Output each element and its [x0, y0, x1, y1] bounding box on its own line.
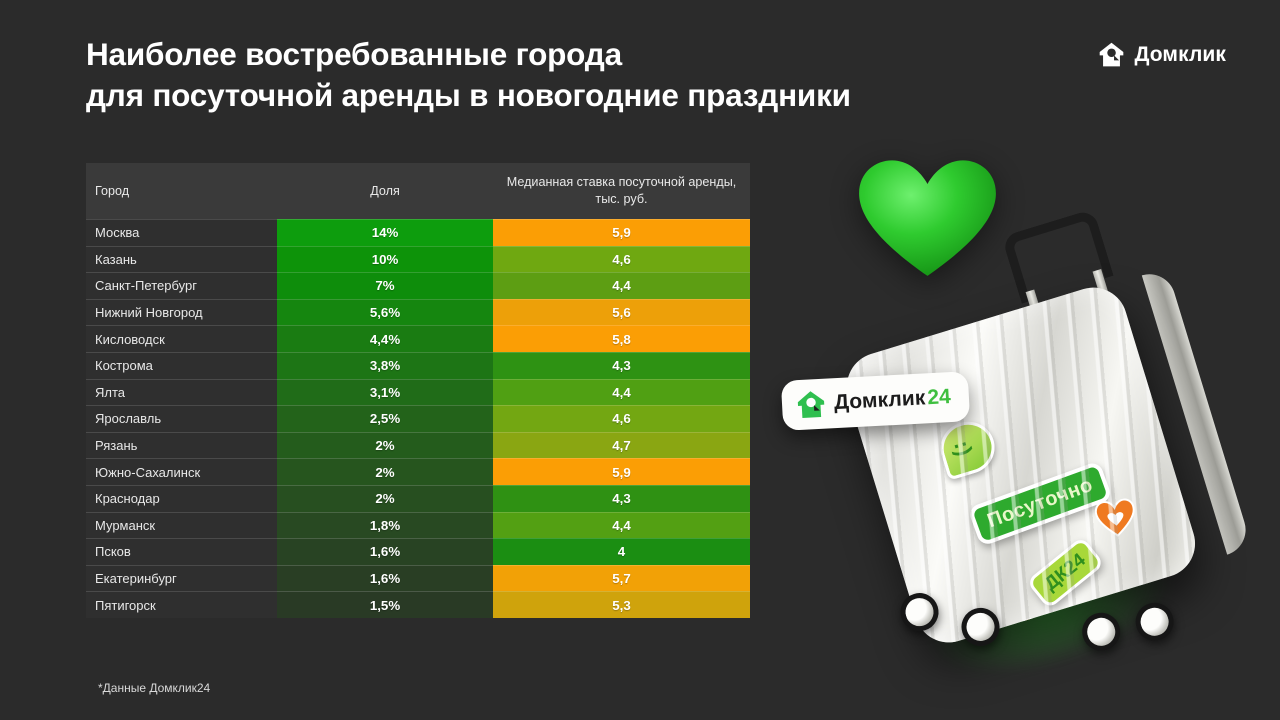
cell-rate: 5,6: [493, 299, 750, 326]
cell-rate: 4,3: [493, 485, 750, 512]
data-table: Город Доля Медианная ставка посуточной а…: [86, 163, 750, 618]
cell-share: 2%: [277, 432, 493, 459]
cell-rate: 4,4: [493, 512, 750, 539]
column-header-share: Доля: [277, 163, 493, 219]
table-row: Пятигорск1,5%5,3: [86, 591, 750, 618]
cell-city: Рязань: [86, 432, 277, 459]
domclick-house-icon: [795, 389, 827, 421]
cell-share: 1,6%: [277, 565, 493, 592]
cell-share: 2%: [277, 485, 493, 512]
cell-city: Псков: [86, 538, 277, 565]
domclick-house-icon: [1098, 41, 1125, 68]
cell-rate: 5,9: [493, 219, 750, 246]
table-row: Ялта3,1%4,4: [86, 379, 750, 406]
cell-rate: 5,7: [493, 565, 750, 592]
cell-share: 4,4%: [277, 325, 493, 352]
cell-rate: 5,8: [493, 325, 750, 352]
badge-suffix: 24: [927, 385, 952, 410]
cell-city: Пятигорск: [86, 591, 277, 618]
badge-brand-name: Домклик: [833, 386, 926, 415]
cell-city: Казань: [86, 246, 277, 273]
cell-share: 14%: [277, 219, 493, 246]
table-row: Рязань2%4,7: [86, 432, 750, 459]
sticker-posutochno: Посуточно: [967, 460, 1113, 547]
sticker-heart-icon: [1094, 497, 1138, 540]
footnote: *Данные Домклик24: [98, 681, 210, 695]
domclick24-badge: Домклик 24: [781, 371, 970, 431]
cell-share: 10%: [277, 246, 493, 273]
cell-city: Ялта: [86, 379, 277, 406]
cell-share: 2%: [277, 458, 493, 485]
cell-city: Москва: [86, 219, 277, 246]
column-header-city: Город: [86, 163, 277, 219]
cell-rate: 4,4: [493, 272, 750, 299]
cell-city: Санкт-Петербург: [86, 272, 277, 299]
table-row: Псков1,6%4: [86, 538, 750, 565]
table-row: Нижний Новгород5,6%5,6: [86, 299, 750, 326]
cell-share: 3,1%: [277, 379, 493, 406]
cell-city: Кисловодск: [86, 325, 277, 352]
cell-share: 1,5%: [277, 591, 493, 618]
infographic-canvas: Наиболее востребованные города для посут…: [0, 0, 1280, 720]
cell-share: 2,5%: [277, 405, 493, 432]
cell-rate: 5,3: [493, 591, 750, 618]
cell-city: Нижний Новгород: [86, 299, 277, 326]
cell-rate: 5,9: [493, 458, 750, 485]
table-body: Москва14%5,9Казань10%4,6Санкт-Петербург7…: [86, 219, 750, 618]
table-row: Екатеринбург1,6%5,7: [86, 565, 750, 592]
cell-share: 1,8%: [277, 512, 493, 539]
table-row: Москва14%5,9: [86, 219, 750, 246]
cell-city: Екатеринбург: [86, 565, 277, 592]
sticker-smiley-icon: :): [934, 415, 1001, 481]
table-row: Южно-Сахалинск2%5,9: [86, 458, 750, 485]
cell-rate: 4,4: [493, 379, 750, 406]
cell-rate: 4: [493, 538, 750, 565]
table-row: Краснодар2%4,3: [86, 485, 750, 512]
cell-share: 3,8%: [277, 352, 493, 379]
cell-rate: 4,6: [493, 246, 750, 273]
illustration-group: :) Посуточно ДК24: [760, 140, 1280, 720]
table-row: Кострома3,8%4,3: [86, 352, 750, 379]
cell-rate: 4,7: [493, 432, 750, 459]
cell-city: Южно-Сахалинск: [86, 458, 277, 485]
table-row: Кисловодск4,4%5,8: [86, 325, 750, 352]
page-title: Наиболее востребованные города для посут…: [86, 34, 1046, 115]
cell-share: 1,6%: [277, 538, 493, 565]
cell-city: Мурманск: [86, 512, 277, 539]
cell-city: Ярославль: [86, 405, 277, 432]
table-row: Мурманск1,8%4,4: [86, 512, 750, 539]
cell-share: 5,6%: [277, 299, 493, 326]
brand-name: Домклик: [1134, 43, 1226, 67]
cell-city: Кострома: [86, 352, 277, 379]
cell-city: Краснодар: [86, 485, 277, 512]
table-row: Казань10%4,6: [86, 246, 750, 273]
brand-logo: Домклик: [1098, 41, 1226, 68]
table-row: Санкт-Петербург7%4,4: [86, 272, 750, 299]
cell-rate: 4,3: [493, 352, 750, 379]
cell-rate: 4,6: [493, 405, 750, 432]
table-row: Ярославль2,5%4,6: [86, 405, 750, 432]
cell-share: 7%: [277, 272, 493, 299]
table-header-row: Город Доля Медианная ставка посуточной а…: [86, 163, 750, 219]
column-header-rate: Медианная ставка посуточной аренды, тыс.…: [493, 163, 750, 219]
sticker-dk24: ДК24: [1026, 536, 1105, 609]
